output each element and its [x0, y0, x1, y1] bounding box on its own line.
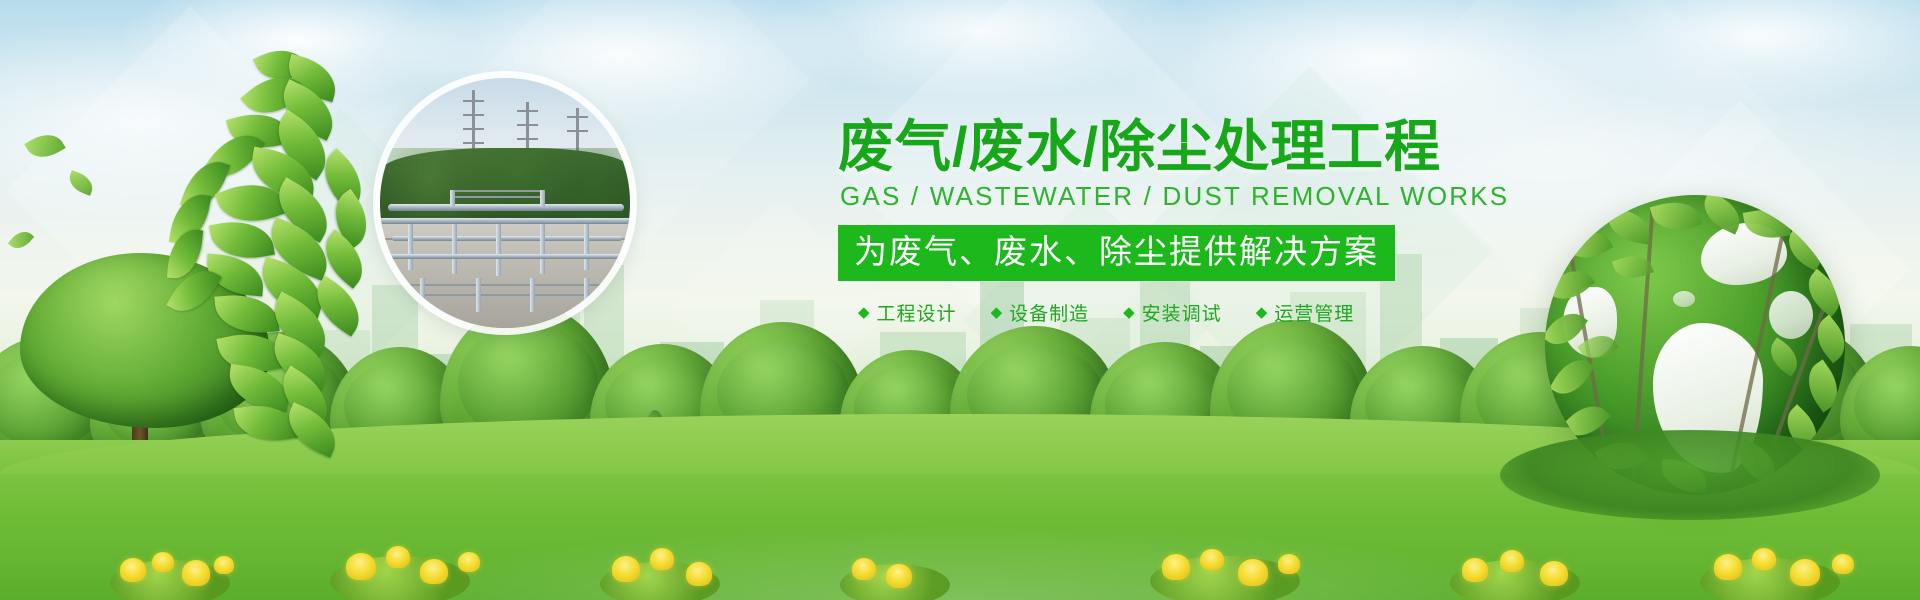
banner-text-block: 废气/废水/除尘处理工程 GAS / WASTEWATER / DUST REM… — [838, 118, 1498, 326]
foreground-tree — [20, 250, 270, 450]
list-item[interactable]: ◆ 安装调试 — [1123, 299, 1222, 326]
wastewater-plant-photo — [380, 78, 630, 328]
diamond-bullet-icon: ◆ — [991, 305, 1003, 320]
tagline-text: 为废气、废水、除尘提供解决方案 — [854, 235, 1379, 270]
list-item[interactable]: ◆ 设备制造 — [991, 299, 1090, 326]
diamond-bullet-icon: ◆ — [1123, 305, 1135, 320]
tagline-bar: 为废气、废水、除尘提供解决方案 — [838, 225, 1395, 282]
list-item[interactable]: ◆ 工程设计 — [858, 299, 957, 326]
service-bullet-list: ◆ 工程设计 ◆ 设备制造 ◆ 安装调试 ◆ 运营管理 — [838, 299, 1498, 326]
list-item-label: 运营管理 — [1274, 299, 1354, 326]
list-item-label: 工程设计 — [877, 299, 957, 326]
page-title: 废气/废水/除尘处理工程 — [838, 118, 1498, 176]
globe-base-foliage — [1500, 430, 1880, 520]
diamond-bullet-icon: ◆ — [1256, 305, 1268, 320]
list-item-label: 安装调试 — [1142, 299, 1222, 326]
leaf-man-figure — [120, 42, 400, 462]
page-subtitle: GAS / WASTEWATER / DUST REMOVAL WORKS — [840, 182, 1498, 211]
eco-engineering-banner: 废气/废水/除尘处理工程 GAS / WASTEWATER / DUST REM… — [0, 0, 1920, 600]
list-item[interactable]: ◆ 运营管理 — [1256, 299, 1355, 326]
list-item-label: 设备制造 — [1009, 299, 1089, 326]
diamond-bullet-icon: ◆ — [858, 305, 870, 320]
